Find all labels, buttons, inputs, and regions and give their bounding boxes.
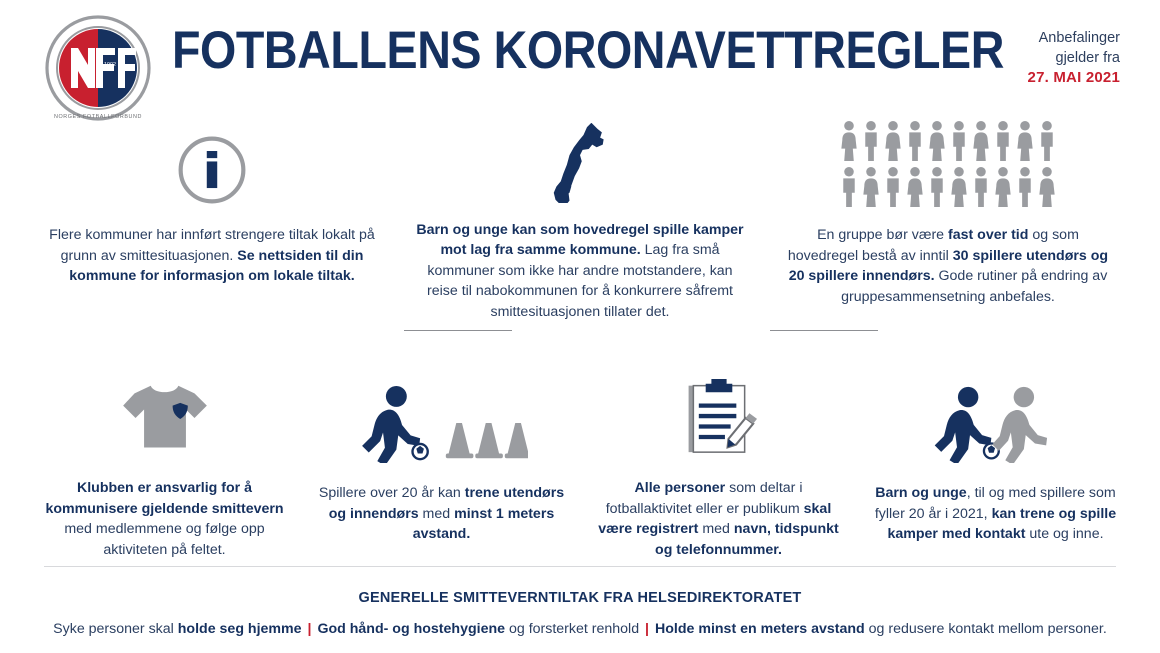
- person-female-icon: [972, 120, 990, 162]
- person-female-icon: [884, 120, 902, 162]
- section-dividers: [0, 330, 1160, 331]
- footer: GENERELLE SMITTEVERNTILTAK FRA HELSEDIRE…: [0, 590, 1160, 639]
- footer-divider: [0, 566, 1160, 567]
- rule-card-group-size: En gruppe bør være fast over tid og som …: [764, 112, 1132, 322]
- person-male-icon: [840, 166, 858, 208]
- header: NORGES FOTBALLFORBUND 1902 FOTBALLENS KO…: [0, 0, 1160, 112]
- bottom-rules-row: Klubben er ansvarlig for å kommunisere g…: [0, 375, 1160, 560]
- rule-text: Klubben er ansvarlig for å kommunisere g…: [38, 478, 291, 560]
- rule-text: Alle personer som deltar i fotballaktivi…: [592, 478, 845, 560]
- person-female-icon: [1038, 166, 1056, 208]
- player-with-cones-icon: [315, 375, 568, 463]
- person-male-icon: [884, 166, 902, 208]
- twenty-people-group-icon: [776, 112, 1120, 208]
- infographic-page: NORGES FOTBALLFORBUND 1902 FOTBALLENS KO…: [0, 0, 1160, 653]
- person-male-icon: [862, 120, 880, 162]
- footer-measures-text: Syke personer skal holde seg hjemme | Go…: [0, 619, 1160, 639]
- clipboard-pencil-icon: [592, 375, 845, 458]
- divider-left: [404, 330, 512, 331]
- person-female-icon: [928, 120, 946, 162]
- person-male-icon: [950, 120, 968, 162]
- person-male-icon: [906, 120, 924, 162]
- rule-text: Barn og unge kan som hovedregel spille k…: [415, 220, 745, 323]
- footer-title: GENERELLE SMITTEVERNTILTAK FRA HELSEDIRE…: [0, 590, 1160, 606]
- person-male-icon: [1038, 120, 1056, 162]
- person-female-icon: [840, 120, 858, 162]
- person-male-icon: [1016, 166, 1034, 208]
- person-female-icon: [1016, 120, 1034, 162]
- person-male-icon: [994, 120, 1012, 162]
- divider-right: [770, 330, 878, 331]
- person-male-icon: [972, 166, 990, 208]
- svg-text:NORGES FOTBALLFORBUND: NORGES FOTBALLFORBUND: [54, 114, 142, 120]
- rule-card-club-responsibility: Klubben er ansvarlig for å kommunisere g…: [26, 375, 303, 560]
- two-players-contact-icon: [869, 375, 1122, 463]
- person-female-icon: [862, 166, 880, 208]
- rule-card-youth-contact: Barn og unge, til og med spillere som fy…: [857, 375, 1134, 560]
- person-male-icon: [928, 166, 946, 208]
- nff-logo: NORGES FOTBALLFORBUND 1902: [44, 14, 152, 122]
- info-circle-icon: [40, 112, 384, 208]
- tshirt-icon: [38, 375, 291, 458]
- norway-map-icon: [408, 112, 752, 203]
- validity-date: Anbefalinger gjelder fra 27. MAI 2021: [1028, 28, 1120, 88]
- rule-text: En gruppe bør være fast over tid og som …: [783, 225, 1113, 307]
- person-female-icon: [950, 166, 968, 208]
- rule-card-local-measures: Flere kommuner har innført strengere til…: [28, 112, 396, 322]
- rule-text: Flere kommuner har innført strengere til…: [47, 225, 377, 287]
- people-row: [840, 166, 1056, 208]
- person-female-icon: [994, 166, 1012, 208]
- rule-text: Spillere over 20 år kan trene utendørs o…: [315, 483, 568, 545]
- person-female-icon: [906, 166, 924, 208]
- people-row: [840, 120, 1056, 162]
- date-line-1: Anbefalinger: [1028, 28, 1120, 48]
- page-title: FOTBALLENS KORONAVETTREGLER: [172, 20, 1004, 82]
- rule-text: Barn og unge, til og med spillere som fy…: [869, 483, 1122, 545]
- rule-card-registration: Alle personer som deltar i fotballaktivi…: [580, 375, 857, 560]
- rule-card-distance-training: Spillere over 20 år kan trene utendørs o…: [303, 375, 580, 560]
- svg-text:1902: 1902: [104, 62, 116, 68]
- people-grid: [840, 120, 1056, 208]
- date-line-3: 27. MAI 2021: [1028, 68, 1120, 88]
- rule-card-same-municipality: Barn og unge kan som hovedregel spille k…: [396, 112, 764, 322]
- footer-rule-line: [44, 566, 1116, 567]
- date-line-2: gjelder fra: [1028, 48, 1120, 68]
- top-rules-row: Flere kommuner har innført strengere til…: [0, 112, 1160, 322]
